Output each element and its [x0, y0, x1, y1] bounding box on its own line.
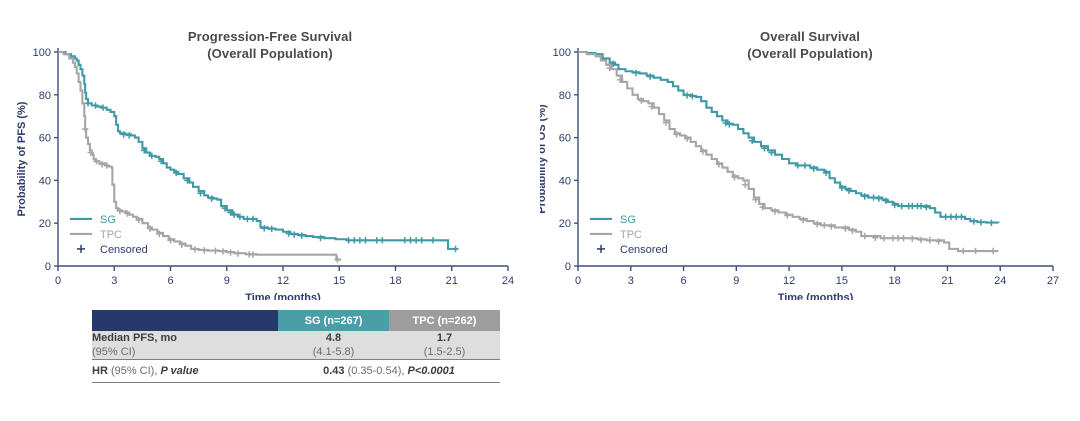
stats-table-pfs: SG (n=267) TPC (n=262) Median PFS, mo (9… — [92, 310, 500, 383]
table-header-tpc: TPC (n=262) — [389, 310, 500, 331]
x-tick-label: 9 — [224, 275, 230, 287]
legend-tpc: TPC — [70, 229, 122, 241]
censor-mark-sg — [299, 232, 305, 238]
km-plot-pfs: 02040608010003691215182124Time (months)P… — [0, 0, 540, 300]
censor-mark-tpc — [821, 222, 827, 228]
legend-censored-label: Censored — [620, 244, 668, 256]
x-tick-label: 6 — [680, 275, 686, 287]
censor-mark-sg — [269, 226, 275, 232]
censor-mark-sg — [802, 162, 808, 168]
censor-mark-tpc — [212, 248, 218, 254]
row-value-sg: 4.8 (4.1-5.8) — [278, 331, 389, 360]
censor-mark-sg — [430, 237, 436, 243]
x-tick-label: 18 — [389, 275, 401, 287]
censor-mark-sg — [452, 246, 458, 252]
censor-mark-tpc — [201, 247, 207, 253]
censor-mark-tpc — [909, 235, 915, 241]
censor-mark-sg — [413, 237, 419, 243]
row-value-sg-main: 4.8 — [278, 331, 389, 345]
censor-mark-sg — [876, 195, 882, 201]
x-tick-label: 0 — [55, 275, 61, 287]
censor-mark-tpc — [927, 237, 933, 243]
censor-mark-sg — [419, 237, 425, 243]
censor-mark-tpc — [800, 217, 806, 223]
x-axis-title: Time (months) — [778, 292, 854, 300]
y-tick-label: 0 — [45, 261, 51, 273]
censor-mark-sg — [244, 216, 250, 222]
censor-mark-sg — [345, 237, 351, 243]
hr-label-bold: HR — [92, 365, 108, 377]
legend-censored: Censored — [597, 244, 668, 256]
y-tick-label: 20 — [39, 218, 51, 230]
censor-mark-sg — [407, 237, 413, 243]
legend-tpc-label: TPC — [100, 229, 122, 241]
row-value-tpc-ci: (1.5-2.5) — [389, 345, 500, 359]
hr-label-italic: P value — [160, 365, 198, 377]
x-tick-label: 3 — [111, 275, 117, 287]
km-figure: Progression-Free Survival (Overall Popul… — [0, 0, 1080, 421]
censor-mark-sg — [870, 194, 876, 200]
x-tick-label: 6 — [167, 275, 173, 287]
censor-mark-sg — [988, 220, 994, 226]
y-tick-label: 80 — [559, 90, 571, 102]
y-tick-label: 40 — [39, 175, 51, 187]
km-curve-tpc — [578, 52, 998, 251]
censor-mark-sg — [209, 195, 215, 201]
x-tick-label: 21 — [446, 275, 458, 287]
km-curve-sg — [58, 52, 457, 249]
legend-censored-label: Censored — [100, 244, 148, 256]
censor-mark-sg — [971, 218, 977, 224]
y-tick-label: 80 — [39, 90, 51, 102]
panel-pfs: Progression-Free Survival (Overall Popul… — [0, 0, 540, 421]
censor-mark-sg — [120, 131, 126, 137]
censor-mark-tpc — [814, 221, 820, 227]
censor-mark-tpc — [235, 250, 241, 256]
censor-mark-tpc — [960, 248, 966, 254]
censor-mark-tpc — [220, 248, 226, 254]
censor-mark-sg — [918, 203, 924, 209]
x-tick-label: 24 — [502, 275, 514, 287]
y-tick-label: 20 — [559, 218, 571, 230]
censor-mark-sg — [357, 237, 363, 243]
censor-mark-tpc — [842, 225, 848, 231]
x-tick-label: 27 — [1047, 275, 1059, 287]
hr-pvalue: P<0.0001 — [408, 365, 455, 377]
table-header-row: SG (n=267) TPC (n=262) — [92, 310, 500, 331]
censor-mark-tpc — [192, 246, 198, 252]
legend-tpc-label: TPC — [620, 229, 642, 241]
censor-mark-sg — [100, 104, 106, 110]
censor-mark-tpc — [990, 248, 996, 254]
censor-mark-tpc — [849, 227, 855, 233]
x-tick-label: 24 — [994, 275, 1006, 287]
y-tick-label: 100 — [33, 47, 51, 59]
censor-mark-tpc — [742, 181, 748, 187]
censor-mark-sg — [291, 231, 297, 237]
legend-sg: SG — [590, 214, 636, 226]
censor-mark-sg — [862, 193, 868, 199]
censor-mark-sg — [317, 235, 323, 241]
censor-mark-tpc — [918, 237, 924, 243]
table-row: Median PFS, mo (95% CI) 4.8 (4.1-5.8) 1.… — [92, 331, 500, 360]
censor-mark-sg — [92, 102, 98, 108]
km-plot-os: 0204060801000369121518212427Time (months… — [540, 0, 1080, 300]
km-svg-os: 0204060801000369121518212427Time (months… — [540, 0, 1080, 300]
censor-mark-sg — [261, 225, 267, 231]
censor-mark-tpc — [935, 238, 941, 244]
legend-sg-label: SG — [100, 214, 116, 226]
censor-mark-sg — [633, 70, 639, 76]
censor-mark-sg — [647, 73, 653, 79]
x-tick-label: 15 — [333, 275, 345, 287]
censor-mark-sg — [374, 237, 380, 243]
row-value-tpc: 1.7 (1.5-2.5) — [389, 331, 500, 360]
km-curve-sg — [578, 52, 998, 223]
row-value-sg-ci: (4.1-5.8) — [278, 345, 389, 359]
censor-mark-tpc — [862, 233, 868, 239]
censor-mark-sg — [351, 237, 357, 243]
hr-estimate: 0.43 — [323, 365, 344, 377]
censor-mark-tpc — [334, 256, 340, 262]
x-tick-label: 21 — [941, 275, 953, 287]
row-label-main: Median PFS, mo — [92, 331, 278, 345]
y-axis-title: Probability of OS (%) — [540, 104, 548, 214]
censor-mark-tpc — [972, 248, 978, 254]
row-value-tpc-main: 1.7 — [389, 331, 500, 345]
x-tick-label: 15 — [836, 275, 848, 287]
x-tick-label: 12 — [277, 275, 289, 287]
row-label-cell: Median PFS, mo (95% CI) — [92, 331, 278, 360]
censor-mark-sg — [362, 237, 368, 243]
censor-mark-tpc — [250, 251, 256, 257]
x-tick-label: 9 — [733, 275, 739, 287]
legend-sg-label: SG — [620, 214, 636, 226]
censor-mark-sg — [923, 204, 929, 210]
x-tick-label: 3 — [628, 275, 634, 287]
censor-mark-sg — [126, 132, 132, 138]
legend-censored: Censored — [77, 244, 148, 256]
panel-os: Overall Survival (Overall Population) 02… — [540, 0, 1080, 421]
legend-tpc: TPC — [590, 229, 642, 241]
censor-mark-sg — [250, 216, 256, 222]
y-axis-title: Probability of PFS (%) — [16, 101, 28, 216]
censor-mark-sg — [85, 100, 91, 106]
km-svg-pfs: 02040608010003691215182124Time (months)P… — [0, 0, 540, 300]
legend-sg: SG — [70, 214, 116, 226]
censor-mark-sg — [978, 219, 984, 225]
y-tick-label: 100 — [553, 47, 571, 59]
y-tick-label: 0 — [565, 261, 571, 273]
censor-mark-tpc — [772, 208, 778, 214]
censor-mark-tpc — [82, 126, 88, 132]
y-tick-label: 40 — [559, 175, 571, 187]
censor-mark-sg — [811, 165, 817, 171]
censor-mark-sg — [899, 203, 905, 209]
censor-mark-sg — [379, 237, 385, 243]
x-axis-title: Time (months) — [245, 292, 321, 300]
hr-value: 0.43 (0.35-0.54), P<0.0001 — [278, 360, 500, 383]
y-tick-label: 60 — [559, 133, 571, 145]
hr-ci: (0.35-0.54), — [345, 365, 408, 377]
x-tick-label: 12 — [783, 275, 795, 287]
censor-mark-sg — [402, 237, 408, 243]
table-header-sg: SG (n=267) — [278, 310, 389, 331]
censor-mark-tpc — [881, 235, 887, 241]
censor-mark-tpc — [900, 235, 906, 241]
censor-mark-sg — [883, 198, 889, 204]
x-tick-label: 0 — [575, 275, 581, 287]
censor-mark-sg — [684, 92, 690, 98]
table-header-blank — [92, 310, 278, 331]
censor-mark-tpc — [828, 223, 834, 229]
hr-label-rest: (95% CI), — [108, 365, 161, 377]
hr-label: HR (95% CI), P value — [92, 360, 278, 383]
x-tick-label: 18 — [889, 275, 901, 287]
row-label-sub: (95% CI) — [92, 345, 278, 359]
censor-mark-tpc — [227, 249, 233, 255]
y-tick-label: 60 — [39, 133, 51, 145]
hazard-ratio-row: HR (95% CI), P value 0.43 (0.35-0.54), P… — [92, 360, 500, 383]
censor-mark-sg — [958, 214, 964, 220]
